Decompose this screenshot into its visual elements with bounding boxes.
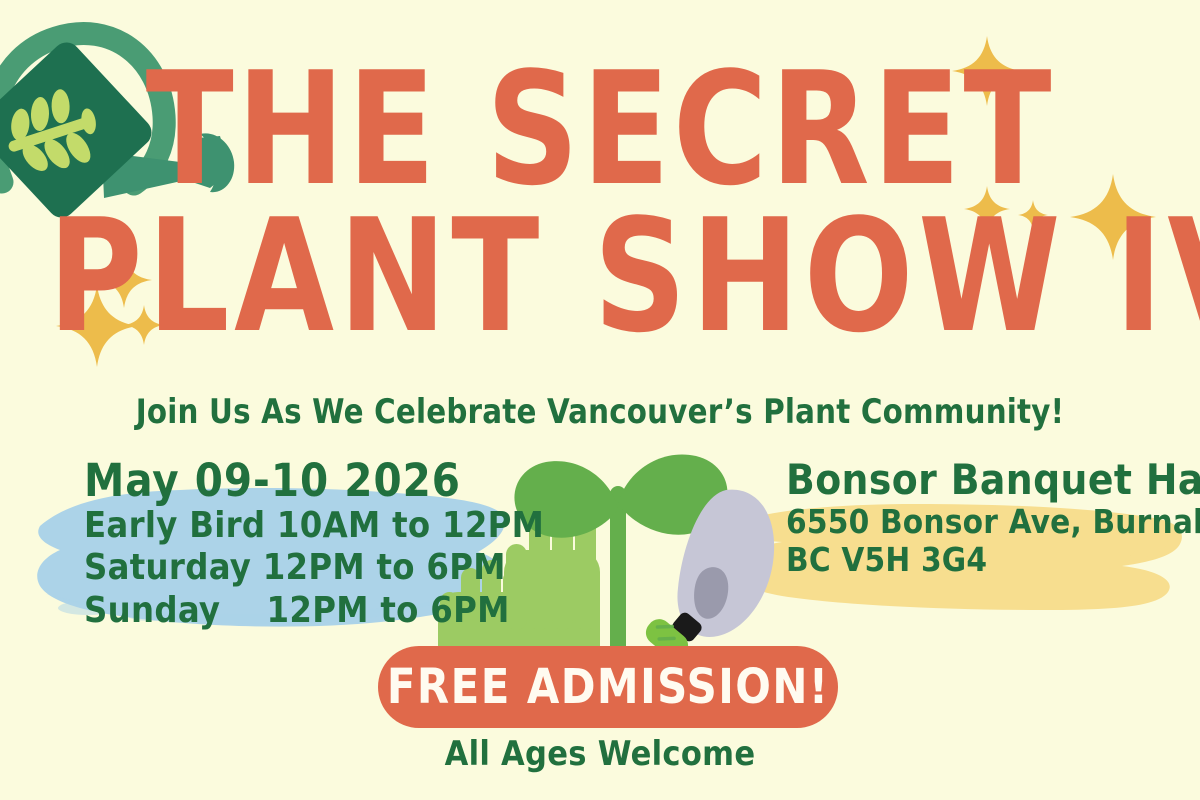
event-dates: May 09-10 2026 bbox=[84, 458, 504, 505]
free-admission-label: FREE ADMISSION! bbox=[387, 659, 830, 715]
venue-block: Bonsor Banquet Hall 6550 Bonsor Ave, Bur… bbox=[786, 458, 1186, 579]
venue-name: Bonsor Banquet Hall bbox=[786, 458, 1186, 503]
schedule-row-sunday: Sunday 12PM to 6PM bbox=[84, 590, 504, 632]
all-ages-welcome-note: All Ages Welcome bbox=[0, 734, 1200, 774]
venue-address-line-1: 6550 Bonsor Ave, Burnaby, bbox=[786, 503, 1186, 541]
trowel-icon bbox=[641, 490, 774, 664]
event-poster: THE SECRET PLANT SHOW IV Join Us As We C… bbox=[0, 0, 1200, 800]
schedule-row-early-bird: Early Bird 10AM to 12PM bbox=[84, 505, 504, 547]
venue-address-line-2: BC V5H 3G4 bbox=[786, 541, 1186, 579]
free-admission-badge: FREE ADMISSION! bbox=[378, 646, 838, 728]
poster-headline: THE SECRET PLANT SHOW IV bbox=[0, 56, 1200, 349]
headline-line-2: PLANT SHOW IV bbox=[48, 203, 1152, 350]
poster-subtitle: Join Us As We Celebrate Vancouver’s Plan… bbox=[24, 392, 1176, 432]
schedule-block: May 09-10 2026 Early Bird 10AM to 12PM S… bbox=[84, 458, 504, 632]
headline-line-1: THE SECRET bbox=[48, 56, 1152, 203]
schedule-row-saturday: Saturday 12PM to 6PM bbox=[84, 547, 504, 589]
